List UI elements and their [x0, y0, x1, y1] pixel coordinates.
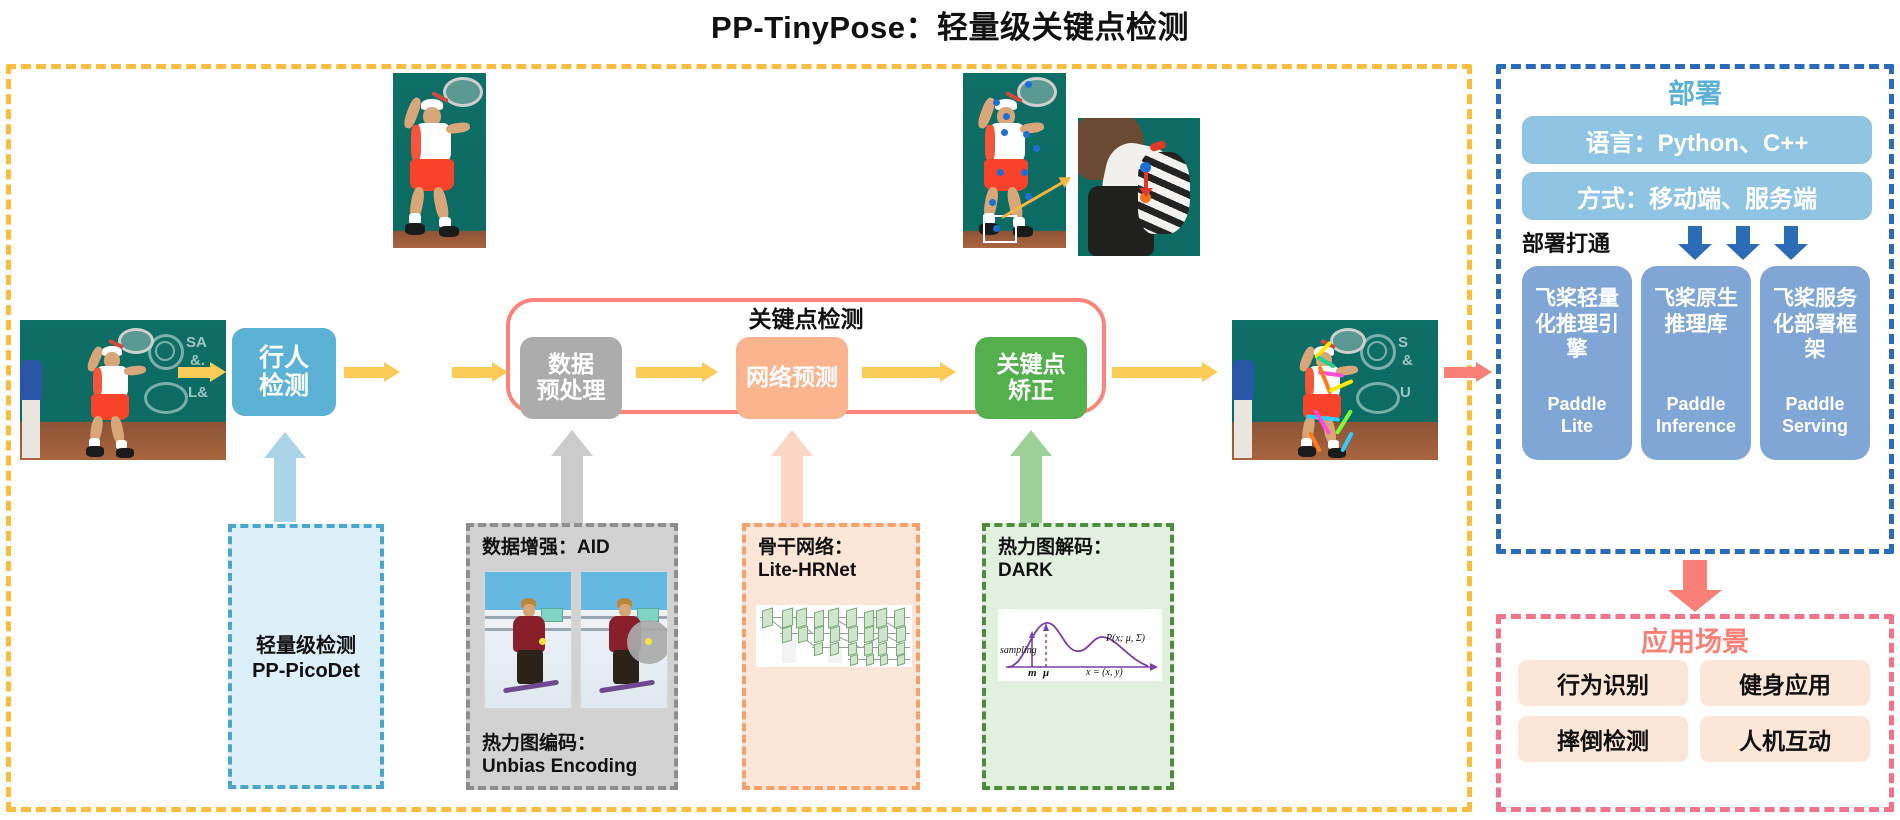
cropped-person-photo	[393, 73, 486, 248]
zoomed-foot-patch	[1078, 118, 1200, 256]
dark-label-dist: P(x; μ, Σ)	[1106, 633, 1145, 644]
deploy-language-bar[interactable]: 语言：Python、C++	[1522, 116, 1872, 164]
person-detection-box[interactable]: 行人 检测	[232, 328, 336, 416]
detail-picodet-title: 轻量级检测 PP-PicoDet	[232, 634, 380, 684]
deploy-card-paddle-lite[interactable]: 飞桨轻量化推理引擎 Paddle Lite	[1522, 266, 1632, 460]
app-item-human-computer-interaction[interactable]: 人机互动	[1700, 716, 1870, 762]
bystander	[20, 360, 42, 460]
aid-sample-image-left	[484, 571, 572, 709]
deploy-card-2-cn: 飞桨服务化部署框架	[1764, 286, 1866, 363]
detail-aid-subtitle: 热力图编码： Unbias Encoding	[482, 732, 637, 778]
app-item-fitness[interactable]: 健身应用	[1700, 660, 1870, 706]
app-item-behavior-recognition[interactable]: 行为识别	[1518, 660, 1688, 706]
hrnet-architecture-thumbnail	[756, 605, 912, 667]
arrow-net-to-fix	[862, 362, 960, 382]
app-item-3-label: 人机互动	[1739, 722, 1831, 756]
deploy-card-0-cn: 飞桨轻量化推理引擎	[1526, 286, 1628, 363]
deploy-mode-label: 方式：移动端、服务端	[1577, 179, 1817, 214]
arrow-into-group	[452, 362, 508, 382]
applications-title: 应用场景	[1496, 620, 1894, 659]
deploy-down-arrow-1	[1678, 226, 1712, 260]
detail-box-picodet: 轻量级检测 PP-PicoDet	[228, 524, 384, 789]
app-item-2-label: 摔倒检测	[1557, 722, 1649, 756]
zoom-callout-box	[983, 215, 1017, 243]
output-photo: S & U	[1232, 320, 1438, 460]
uparrow-preprocess	[551, 430, 593, 524]
dark-distribution-chart: sampling m μ P(x; μ, Σ) x = (x, y)	[998, 609, 1162, 681]
arrow-pre-to-net	[636, 362, 722, 382]
deploy-card-1-en: Paddle Inference	[1645, 394, 1747, 437]
detail-hrnet-title: 骨干网络： Lite-HRNet	[758, 536, 856, 582]
stage-label-keypoint-correct: 关键点 矫正	[997, 352, 1066, 404]
detail-box-aid: 数据增强：AID 热力图编码： Unbias Encoding	[466, 523, 678, 790]
app-item-0-label: 行为识别	[1557, 666, 1649, 700]
deploy-language-label: 语言：Python、C++	[1586, 123, 1809, 158]
stage-label-network-predict: 网络预测	[746, 365, 838, 391]
detail-aid-title: 数据增强：AID	[482, 536, 610, 559]
deploy-card-paddle-serving[interactable]: 飞桨服务化部署框架 Paddle Serving	[1760, 266, 1870, 460]
deploy-card-0-en: Paddle Lite	[1526, 394, 1628, 437]
deploy-mode-bar[interactable]: 方式：移动端、服务端	[1522, 172, 1872, 220]
deploy-card-2-en: Paddle Serving	[1764, 394, 1866, 437]
arrow-group-to-output	[1112, 362, 1222, 382]
uparrow-dark	[1010, 430, 1052, 524]
stage-box-preprocess[interactable]: 数据 预处理	[520, 337, 622, 419]
deploy-down-arrow-3	[1774, 226, 1808, 260]
deploy-down-arrow-2	[1726, 226, 1760, 260]
dark-label-mu: μ	[1043, 667, 1049, 679]
detail-box-hrnet: 骨干网络： Lite-HRNet	[742, 523, 920, 790]
bystander	[1232, 360, 1254, 460]
stage-label-preprocess: 数据 预处理	[537, 352, 606, 404]
person-detection-label: 行人 检测	[259, 344, 309, 400]
arrow-detect-to-keypoint	[344, 362, 400, 382]
deployment-title: 部署	[1496, 72, 1894, 111]
keypoint-result-photo	[963, 73, 1066, 248]
stage-box-network-predict[interactable]: 网络预测	[736, 337, 848, 419]
input-photo: SA &. L&	[20, 320, 226, 460]
correction-arrow	[1144, 172, 1148, 190]
dark-label-sampling: sampling	[1000, 645, 1037, 656]
dark-label-m: m	[1028, 667, 1037, 679]
deploy-card-1-cn: 飞桨原生推理库	[1645, 286, 1747, 337]
page-title: PP-TinyPose：轻量级关键点检测	[0, 2, 1900, 47]
stage-box-keypoint-correct[interactable]: 关键点 矫正	[975, 337, 1087, 419]
arrow-output-to-deploy	[1444, 362, 1492, 382]
uparrow-network	[771, 430, 813, 524]
keypoint-detection-title: 关键点检测	[506, 300, 1106, 334]
app-item-fall-detection[interactable]: 摔倒检测	[1518, 716, 1688, 762]
deploy-card-paddle-inference[interactable]: 飞桨原生推理库 Paddle Inference	[1641, 266, 1751, 460]
deploy-through-label: 部署打通	[1522, 226, 1682, 258]
detail-box-dark: 热力图解码： DARK sampling m μ P(x; μ, Σ) x = …	[982, 523, 1174, 790]
detail-dark-title: 热力图解码： DARK	[998, 536, 1112, 582]
aid-sample-image-right	[580, 571, 668, 709]
app-item-1-label: 健身应用	[1739, 666, 1831, 700]
arrow-deploy-to-apps	[1668, 560, 1722, 612]
uparrow-picodet	[264, 432, 306, 522]
dark-label-xaxis: x = (x, y)	[1086, 667, 1123, 678]
arrow-input-to-detect	[178, 362, 226, 382]
